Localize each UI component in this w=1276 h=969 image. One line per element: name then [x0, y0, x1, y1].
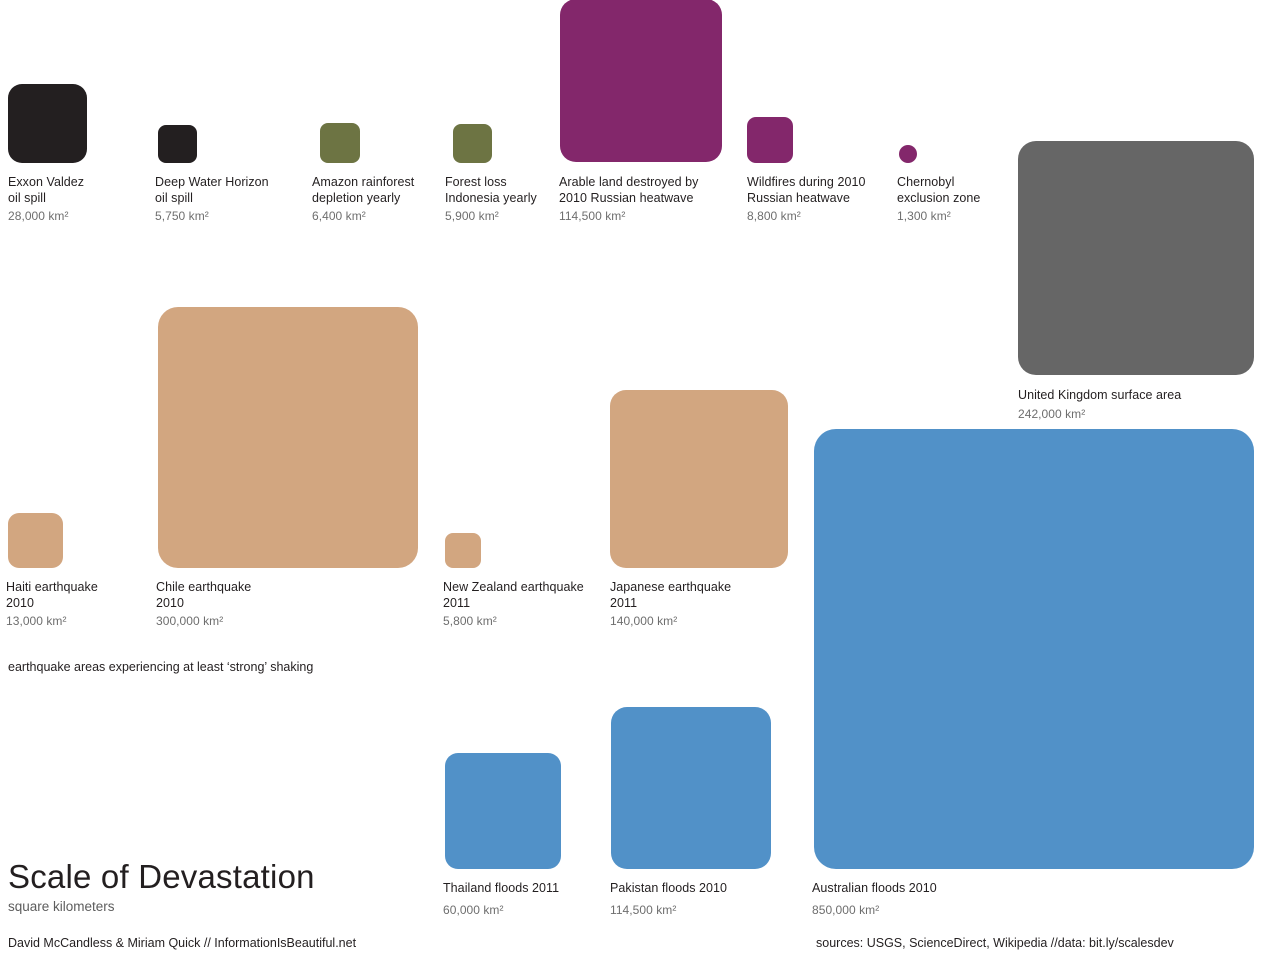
item-value-thailand: 60,000 km² [443, 903, 504, 918]
item-label-wildfires: Wildfires during 2010 Russian heatwave [747, 175, 865, 206]
infographic-canvas: Exxon Valdez oil spill28,000 km²Deep Wat… [0, 0, 1276, 969]
item-label-chernobyl: Chernobyl exclusion zone [897, 175, 980, 206]
item-label-japan: Japanese earthquake 2011 [610, 580, 731, 611]
item-value-chernobyl: 1,300 km² [897, 209, 951, 224]
item-value-australia: 850,000 km² [812, 903, 879, 918]
area-square-australia [814, 429, 1254, 869]
area-square-newzealand [445, 533, 481, 568]
area-square-exxon [8, 84, 87, 163]
item-label-haiti: Haiti earthquake 2010 [6, 580, 98, 611]
area-square-arable [560, 0, 722, 162]
item-label-deepwater: Deep Water Horizon oil spill [155, 175, 269, 206]
area-square-chile [158, 307, 418, 568]
item-value-indonesia: 5,900 km² [445, 209, 499, 224]
item-label-arable: Arable land destroyed by 2010 Russian he… [559, 175, 698, 206]
item-value-pakistan: 114,500 km² [610, 903, 676, 918]
item-value-wildfires: 8,800 km² [747, 209, 801, 224]
area-square-haiti [8, 513, 63, 568]
area-square-deepwater [158, 125, 197, 163]
item-value-chile: 300,000 km² [156, 614, 223, 629]
area-square-japan [610, 390, 788, 568]
credit-line: David McCandless & Miriam Quick // Infor… [8, 935, 356, 951]
item-label-chile: Chile earthquake 2010 [156, 580, 251, 611]
item-label-exxon: Exxon Valdez oil spill [8, 175, 84, 206]
item-label-australia: Australian floods 2010 [812, 881, 937, 897]
item-value-amazon: 6,400 km² [312, 209, 366, 224]
area-square-chernobyl [899, 145, 917, 163]
area-square-uk [1018, 141, 1254, 375]
item-value-haiti: 13,000 km² [6, 614, 67, 629]
item-value-arable: 114,500 km² [559, 209, 625, 224]
area-square-wildfires [747, 117, 793, 163]
item-value-deepwater: 5,750 km² [155, 209, 209, 224]
item-label-pakistan: Pakistan floods 2010 [610, 881, 727, 897]
item-label-indonesia: Forest loss Indonesia yearly [445, 175, 537, 206]
earthquake-note: earthquake areas experiencing at least ‘… [8, 659, 313, 675]
item-label-amazon: Amazon rainforest depletion yearly [312, 175, 414, 206]
area-square-pakistan [611, 707, 771, 869]
item-label-newzealand: New Zealand earthquake 2011 [443, 580, 584, 611]
item-value-japan: 140,000 km² [610, 614, 677, 629]
page-title: Scale of Devastation [8, 859, 315, 895]
item-value-exxon: 28,000 km² [8, 209, 69, 224]
item-label-uk: United Kingdom surface area [1018, 388, 1181, 404]
sources-line[interactable]: sources: USGS, ScienceDirect, Wikipedia … [816, 935, 1174, 951]
area-square-indonesia [453, 124, 492, 163]
area-square-thailand [445, 753, 561, 869]
item-value-uk: 242,000 km² [1018, 407, 1085, 422]
page-subtitle: square kilometers [8, 899, 115, 915]
item-value-newzealand: 5,800 km² [443, 614, 497, 629]
area-square-amazon [320, 123, 360, 163]
item-label-thailand: Thailand floods 2011 [443, 881, 559, 897]
